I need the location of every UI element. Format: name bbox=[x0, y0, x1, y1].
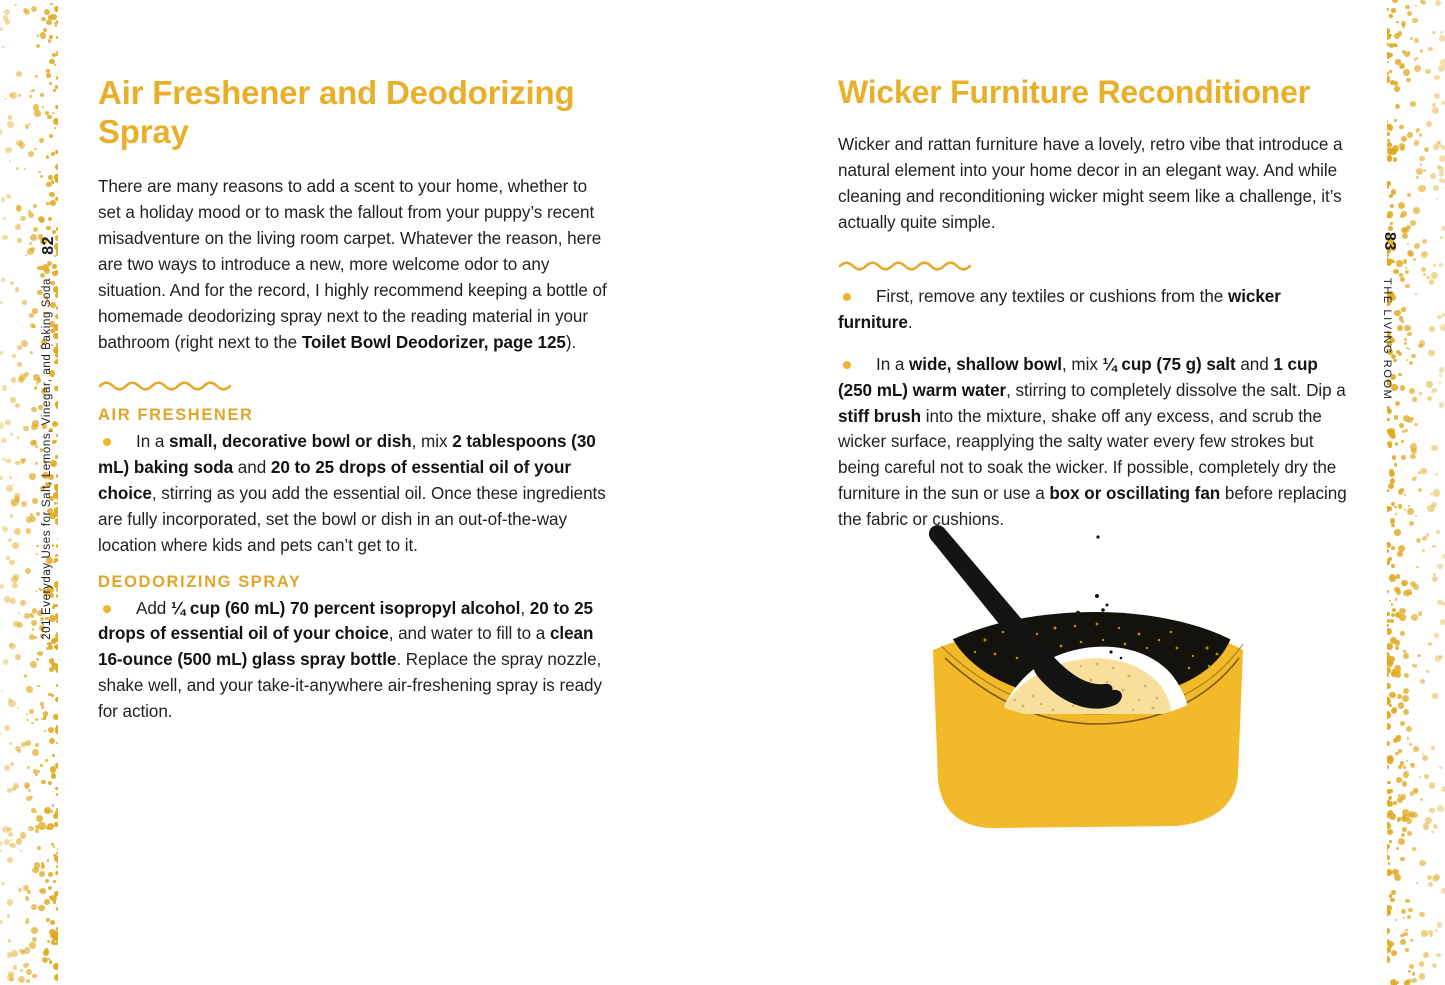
decorative-dot bbox=[1434, 874, 1440, 880]
decorative-dot bbox=[1442, 313, 1445, 317]
decorative-dot bbox=[18, 888, 21, 891]
list-item: In a small, decorative bowl or dish, mix… bbox=[98, 429, 608, 559]
decorative-dot bbox=[1409, 388, 1415, 394]
decorative-dot bbox=[4, 725, 10, 731]
decorative-dot bbox=[6, 485, 13, 492]
decorative-dot bbox=[13, 965, 17, 969]
decorative-dot bbox=[9, 476, 12, 479]
decorative-dot bbox=[29, 95, 32, 98]
decorative-dot bbox=[1432, 31, 1436, 35]
decorative-dot bbox=[31, 722, 34, 725]
intro-paragraph-right: Wicker and rattan furniture have a lovel… bbox=[838, 132, 1348, 236]
decorative-dot bbox=[1413, 788, 1417, 792]
decorative-dot bbox=[1434, 75, 1439, 80]
decorative-dot bbox=[1426, 276, 1429, 279]
bowl-of-salt-with-spoon-illustration bbox=[925, 508, 1255, 848]
decorative-dot bbox=[1420, 163, 1423, 166]
decorative-dot bbox=[1441, 226, 1445, 231]
wavy-divider-icon bbox=[838, 258, 975, 272]
decorative-dot bbox=[1411, 354, 1415, 358]
decorative-dot bbox=[1437, 564, 1442, 569]
decorative-dot bbox=[24, 9, 30, 15]
decorative-dot bbox=[9, 643, 16, 650]
decorative-dot bbox=[1429, 808, 1434, 813]
decorative-dot bbox=[29, 709, 34, 714]
decorative-dot bbox=[1431, 502, 1437, 508]
decorative-dot bbox=[1431, 746, 1435, 750]
decorative-dot bbox=[1411, 763, 1414, 766]
decorative-dot bbox=[0, 841, 3, 846]
decorative-dot bbox=[10, 514, 14, 518]
decorative-dot bbox=[0, 584, 4, 589]
decorative-dot bbox=[1419, 156, 1424, 161]
decorative-dot bbox=[23, 8, 28, 13]
decorative-dot bbox=[3, 15, 8, 20]
section-air-freshener: AIR FRESHENER In a small, decorative bow… bbox=[98, 406, 608, 559]
decorative-dot bbox=[1430, 934, 1434, 938]
decorative-dot bbox=[20, 850, 22, 852]
decorative-dot bbox=[10, 92, 17, 99]
decorative-dot bbox=[1414, 243, 1420, 249]
decorative-dot bbox=[5, 420, 11, 426]
bullet-dot-icon bbox=[103, 605, 111, 613]
running-head-right: THE LIVING ROOM bbox=[1381, 278, 1393, 400]
decorative-dot bbox=[30, 247, 35, 252]
decorative-dot bbox=[1432, 388, 1437, 393]
decorative-dot bbox=[1426, 533, 1430, 537]
decorative-dot bbox=[1427, 875, 1432, 880]
decorative-dot bbox=[22, 300, 27, 305]
decorative-dot bbox=[28, 826, 33, 831]
list-item: Add ¼ cup (60 mL) 70 percent isopropyl a… bbox=[98, 596, 608, 726]
decorative-dot bbox=[1428, 930, 1433, 935]
page-number-left: 82 bbox=[40, 236, 58, 255]
decorative-dot bbox=[26, 796, 31, 801]
decorative-dot bbox=[1439, 367, 1444, 372]
decorative-dot bbox=[14, 528, 21, 535]
decorative-dot bbox=[17, 238, 22, 243]
decorative-dot bbox=[1413, 258, 1416, 261]
decorative-dot bbox=[1425, 69, 1431, 75]
decorative-dot bbox=[1413, 972, 1415, 974]
decorative-dot bbox=[1437, 805, 1444, 812]
decorative-dot bbox=[21, 340, 28, 347]
decorative-dot bbox=[1414, 423, 1417, 426]
decorative-dot bbox=[1416, 882, 1418, 884]
decorative-dot bbox=[1414, 58, 1416, 60]
decorative-dot bbox=[1438, 141, 1442, 145]
decorative-dot bbox=[1435, 0, 1441, 6]
decorative-dot bbox=[1436, 141, 1440, 145]
decorative-dot bbox=[17, 345, 22, 350]
decorative-dot bbox=[1413, 584, 1418, 589]
decorative-dot bbox=[16, 838, 22, 844]
decorative-dot bbox=[1412, 847, 1416, 851]
decorative-dot bbox=[26, 713, 28, 715]
decorative-dot bbox=[18, 376, 25, 383]
decorative-dot bbox=[1413, 789, 1418, 794]
decorative-dot bbox=[1439, 155, 1445, 162]
decorative-dot bbox=[1416, 538, 1421, 543]
decorative-dot bbox=[13, 574, 19, 580]
decorative-dot bbox=[29, 942, 36, 949]
decorative-dot bbox=[27, 963, 29, 965]
decorative-dot bbox=[23, 885, 29, 891]
decorative-dot bbox=[16, 71, 22, 77]
decorative-dot bbox=[20, 459, 25, 464]
decorative-dot bbox=[1439, 381, 1442, 384]
decorative-dot bbox=[32, 325, 35, 328]
decorative-dot bbox=[30, 323, 35, 328]
decorative-dot bbox=[11, 950, 18, 957]
decorative-dot bbox=[19, 142, 26, 149]
decorative-dot bbox=[1421, 251, 1428, 258]
decorative-dot bbox=[1409, 964, 1414, 969]
decorative-dot bbox=[1432, 875, 1439, 882]
decorative-dot bbox=[1410, 939, 1413, 942]
decorative-dot bbox=[14, 4, 17, 7]
decorative-dot bbox=[1428, 47, 1433, 52]
decorative-dot bbox=[1, 197, 5, 201]
decorative-dot bbox=[1413, 746, 1419, 752]
decorative-dot bbox=[26, 686, 33, 693]
decorative-dot bbox=[30, 513, 33, 516]
decorative-dot bbox=[1433, 185, 1440, 192]
decorative-dot bbox=[6, 459, 10, 463]
decorative-dot bbox=[1415, 476, 1417, 478]
decorative-dot bbox=[1439, 178, 1444, 183]
decorative-dot bbox=[1439, 655, 1443, 659]
decorative-dot bbox=[32, 89, 35, 92]
decorative-dot bbox=[1436, 530, 1440, 534]
decorative-dot bbox=[1412, 397, 1416, 401]
page-title-wicker-furniture: Wicker Furniture Reconditioner bbox=[838, 0, 1348, 112]
decorative-dot bbox=[1435, 473, 1439, 477]
decorative-dot bbox=[1420, 679, 1426, 685]
decorative-dot bbox=[2, 385, 7, 390]
decorative-dot bbox=[1434, 633, 1439, 638]
decorative-dot bbox=[1429, 782, 1435, 788]
decorative-dot bbox=[1419, 776, 1421, 778]
decorative-dot bbox=[1423, 823, 1430, 830]
decorative-dot bbox=[26, 969, 32, 975]
recto-page: Wicker Furniture Reconditioner Wicker an… bbox=[838, 0, 1348, 549]
decorative-dot bbox=[1415, 515, 1417, 517]
decorative-dot bbox=[1437, 600, 1442, 605]
decorative-dot bbox=[1432, 545, 1436, 549]
decorative-dot bbox=[1435, 655, 1442, 662]
decorative-dot bbox=[1426, 381, 1433, 388]
decorative-dot bbox=[5, 147, 12, 154]
decorative-dot bbox=[15, 461, 19, 465]
list-item: First, remove any textiles or cushions f… bbox=[838, 284, 1348, 336]
decorative-dot bbox=[7, 914, 10, 917]
decorative-dot bbox=[1434, 93, 1440, 99]
decorative-dot bbox=[26, 528, 32, 534]
decorative-dot bbox=[4, 765, 10, 771]
decorative-dot bbox=[1416, 168, 1423, 175]
decorative-dot bbox=[8, 115, 13, 120]
decorative-dot bbox=[9, 977, 14, 982]
decorative-dot bbox=[1421, 267, 1426, 272]
decorative-dot bbox=[4, 98, 7, 101]
decorative-dot bbox=[25, 784, 29, 788]
decorative-dot bbox=[0, 301, 3, 304]
decorative-dot bbox=[1439, 374, 1442, 377]
decorative-dot bbox=[2, 46, 4, 48]
decorative-dot bbox=[14, 496, 21, 503]
decorative-dot bbox=[28, 789, 31, 792]
decorative-dot bbox=[1415, 5, 1417, 7]
decorative-dot bbox=[1409, 813, 1412, 816]
decorative-dot bbox=[24, 613, 30, 619]
step-list-air-freshener: In a small, decorative bowl or dish, mix… bbox=[98, 429, 608, 559]
decorative-dot bbox=[1421, 0, 1426, 5]
page-title-air-freshener: Air Freshener and Deodorizing Spray bbox=[98, 0, 608, 152]
decorative-dot bbox=[1409, 361, 1413, 365]
decorative-dot bbox=[25, 124, 29, 128]
decorative-dot bbox=[1433, 489, 1440, 496]
decorative-dot bbox=[4, 9, 10, 15]
decorative-dot bbox=[1409, 743, 1412, 746]
decorative-dot bbox=[26, 918, 29, 921]
decorative-dot bbox=[9, 93, 13, 97]
decorative-dot bbox=[7, 788, 12, 793]
decorative-dot bbox=[24, 947, 31, 954]
decorative-dot bbox=[17, 707, 20, 710]
decorative-dot bbox=[11, 377, 16, 382]
decorative-dot bbox=[15, 224, 21, 230]
decorative-dot bbox=[21, 742, 26, 747]
decorative-dot bbox=[1, 882, 5, 886]
decorative-dot bbox=[28, 210, 30, 212]
decorative-dot bbox=[1430, 173, 1436, 179]
decorative-dot bbox=[31, 615, 34, 618]
decorative-dot bbox=[1411, 614, 1418, 621]
decorative-dot bbox=[1422, 549, 1425, 552]
step-list-deodorizing-spray: Add ¼ cup (60 mL) 70 percent isopropyl a… bbox=[98, 596, 608, 726]
decorative-dot bbox=[1410, 220, 1416, 226]
decorative-dot bbox=[29, 242, 32, 245]
decorative-dot bbox=[9, 560, 14, 565]
decorative-dot bbox=[1423, 273, 1426, 276]
decorative-dot bbox=[1431, 831, 1434, 834]
decorative-dot bbox=[28, 212, 34, 218]
decorative-dot bbox=[26, 979, 30, 983]
decorative-dot bbox=[29, 473, 36, 480]
decorative-dot bbox=[26, 516, 32, 522]
decorative-dot bbox=[1411, 448, 1417, 454]
decorative-dot bbox=[1432, 107, 1439, 114]
decorative-dot bbox=[21, 501, 28, 508]
decorative-dot bbox=[1422, 753, 1424, 755]
decorative-dot bbox=[23, 963, 28, 968]
decorative-dot bbox=[0, 422, 4, 429]
decorative-dot bbox=[1442, 554, 1445, 559]
decorative-dot bbox=[8, 538, 12, 542]
decorative-dot bbox=[6, 194, 11, 199]
decorative-dot bbox=[1409, 521, 1414, 526]
decorative-dot bbox=[0, 920, 3, 924]
decorative-dot bbox=[24, 372, 29, 377]
decorative-dot bbox=[1440, 236, 1443, 239]
decorative-dot bbox=[20, 832, 27, 839]
decorative-dot bbox=[16, 167, 18, 169]
decorative-dot bbox=[1431, 445, 1438, 452]
left-margin-rail: 82 201 Everyday Uses for Salt, Lemons, V… bbox=[36, 0, 70, 985]
decorative-dot bbox=[1433, 144, 1439, 150]
decorative-dot bbox=[1421, 468, 1427, 474]
decorative-dot bbox=[1438, 65, 1445, 72]
decorative-dot bbox=[19, 374, 25, 380]
decorative-dot bbox=[1410, 763, 1415, 768]
decorative-dot bbox=[1419, 912, 1425, 918]
decorative-dot bbox=[1411, 417, 1414, 420]
decorative-dot bbox=[10, 499, 15, 504]
decorative-dot bbox=[1439, 144, 1442, 147]
subhead-deodorizing-spray: DEODORIZING SPRAY bbox=[98, 573, 608, 592]
bullet-dot-icon bbox=[843, 361, 851, 369]
decorative-dot bbox=[15, 287, 20, 292]
decorative-dot bbox=[16, 205, 22, 211]
decorative-dot bbox=[20, 600, 26, 606]
decorative-dot bbox=[10, 598, 17, 605]
decorative-dot bbox=[21, 458, 25, 462]
decorative-dot bbox=[9, 844, 11, 846]
decorative-dot bbox=[1431, 272, 1438, 279]
decorative-dot bbox=[1441, 888, 1445, 894]
decorative-dot bbox=[9, 742, 12, 745]
decorative-dot bbox=[1410, 101, 1416, 107]
decorative-dot bbox=[1415, 293, 1417, 295]
bullet-dot-icon bbox=[843, 293, 851, 301]
decorative-dot bbox=[1440, 59, 1445, 66]
decorative-dot bbox=[23, 426, 28, 431]
decorative-dot bbox=[15, 498, 19, 502]
book-page-spread: 82 201 Everyday Uses for Salt, Lemons, V… bbox=[0, 0, 1445, 985]
decorative-dot bbox=[25, 568, 31, 574]
decorative-dot bbox=[17, 362, 22, 367]
decorative-dot bbox=[1428, 642, 1432, 646]
decorative-dot bbox=[1432, 963, 1437, 968]
decorative-dot bbox=[12, 583, 17, 588]
decorative-dot bbox=[1426, 121, 1432, 127]
decorative-dot bbox=[1439, 171, 1444, 176]
decorative-dot bbox=[1420, 49, 1423, 52]
decorative-dot bbox=[2, 526, 8, 532]
decorative-dot bbox=[1416, 131, 1418, 133]
decorative-dot bbox=[27, 248, 34, 255]
decorative-dot bbox=[8, 832, 13, 837]
decorative-dot bbox=[8, 700, 15, 707]
decorative-dot bbox=[4, 839, 11, 846]
decorative-dot bbox=[13, 621, 19, 627]
wavy-divider-icon bbox=[98, 378, 235, 392]
decorative-dot bbox=[0, 733, 2, 735]
decorative-dot bbox=[7, 952, 13, 958]
decorative-dot bbox=[21, 950, 25, 954]
decorative-dot bbox=[1427, 396, 1432, 401]
decorative-dot bbox=[24, 674, 27, 677]
decorative-dot bbox=[1410, 443, 1417, 450]
decorative-dot bbox=[1433, 824, 1438, 829]
decorative-dot bbox=[27, 890, 30, 893]
decorative-dot bbox=[1420, 798, 1423, 801]
decorative-dot bbox=[1417, 654, 1420, 657]
decorative-dot bbox=[1423, 952, 1429, 958]
decorative-dot bbox=[15, 403, 21, 409]
decorative-dot bbox=[8, 971, 14, 977]
decorative-dot bbox=[20, 216, 26, 222]
page-number-right: 83 bbox=[1380, 232, 1398, 251]
decorative-dot bbox=[8, 698, 12, 702]
decorative-dot bbox=[15, 654, 20, 659]
decorative-dot bbox=[1418, 471, 1421, 474]
decorative-dot bbox=[10, 762, 15, 767]
decorative-dot bbox=[1412, 477, 1416, 481]
decorative-dot bbox=[1, 278, 5, 282]
decorative-dot bbox=[18, 976, 25, 983]
decorative-dot bbox=[1426, 670, 1429, 673]
decorative-dot bbox=[2, 458, 6, 462]
decorative-dot bbox=[1436, 198, 1438, 200]
decorative-dot bbox=[27, 766, 30, 769]
decorative-dot bbox=[10, 433, 13, 436]
decorative-dot bbox=[17, 436, 19, 438]
decorative-dot bbox=[16, 205, 21, 210]
decorative-dot bbox=[20, 969, 23, 972]
decorative-dot bbox=[1410, 454, 1415, 459]
step-text: In a wide, shallow bowl, mix ¼ cup (75 g… bbox=[838, 355, 1347, 530]
decorative-dot bbox=[1424, 774, 1429, 779]
decorative-dot bbox=[1414, 65, 1421, 72]
step-list-wicker: First, remove any textiles or cushions f… bbox=[838, 284, 1348, 534]
decorative-dot bbox=[1419, 973, 1425, 979]
decorative-dot bbox=[1429, 279, 1435, 285]
decorative-dot bbox=[1420, 0, 1424, 3]
decorative-dot bbox=[1410, 581, 1416, 587]
step-text: Add ¼ cup (60 mL) 70 percent isopropyl a… bbox=[98, 599, 602, 722]
decorative-dot bbox=[1414, 38, 1419, 43]
decorative-dot bbox=[1433, 573, 1436, 576]
decorative-dot bbox=[12, 484, 14, 486]
decorative-dot bbox=[1418, 611, 1423, 616]
decorative-dot bbox=[4, 596, 11, 603]
decorative-dot bbox=[0, 27, 3, 31]
decorative-dot bbox=[12, 542, 19, 549]
decorative-dot bbox=[0, 849, 2, 853]
decorative-dot bbox=[1412, 978, 1417, 983]
decorative-dot bbox=[10, 397, 15, 402]
decorative-dot bbox=[1438, 166, 1444, 172]
decorative-dot bbox=[7, 827, 12, 832]
decorative-dot bbox=[2, 235, 8, 241]
decorative-dot bbox=[1421, 930, 1428, 937]
decorative-dot bbox=[1441, 145, 1445, 149]
decorative-dot bbox=[14, 493, 20, 499]
decorative-dot bbox=[12, 499, 19, 506]
decorative-dot bbox=[1416, 566, 1418, 568]
decorative-dot bbox=[1439, 766, 1442, 769]
decorative-dot bbox=[1416, 128, 1420, 132]
decorative-dot bbox=[1435, 929, 1438, 932]
decorative-dot bbox=[3, 217, 6, 220]
decorative-dot bbox=[30, 796, 33, 799]
decorative-dot bbox=[24, 168, 27, 171]
decorative-dot bbox=[5, 19, 10, 24]
decorative-dot bbox=[1429, 326, 1435, 332]
decorative-dot bbox=[1414, 140, 1419, 145]
